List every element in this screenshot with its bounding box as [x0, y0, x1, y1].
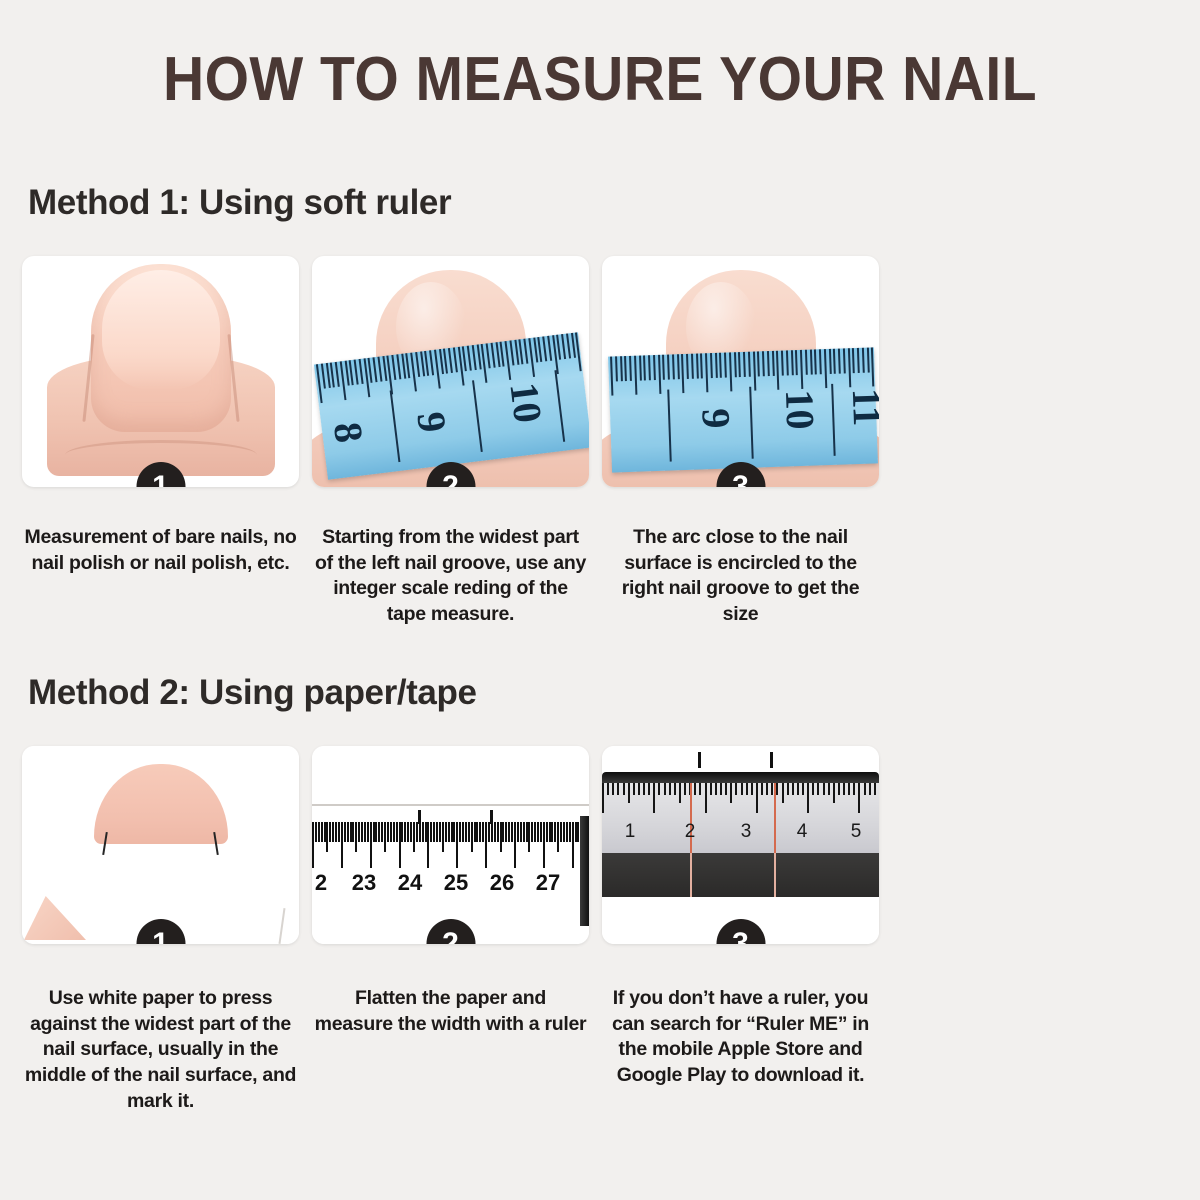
tape-major-line — [749, 386, 754, 458]
photo-paper-ruler-measure: 22324252627 2 — [312, 746, 589, 944]
step-card: 12345 3 If you don’t have a ruler, you c… — [602, 746, 879, 1115]
tape-major-line — [390, 390, 401, 462]
methods-container: Method 1: Using soft ruler 1 Measurement… — [0, 0, 900, 1200]
photo-paper-pressed-on-nail: 1 — [22, 746, 299, 944]
ruler-number: 5 — [851, 821, 862, 843]
tape-major-line — [667, 389, 672, 461]
step-card: 1 Use white paper to press against the w… — [22, 746, 299, 1115]
ruler-scale — [312, 822, 589, 868]
ruler-illustration: 22324252627 — [312, 746, 589, 944]
app-promo-panel: Ruler ME 12:03 1234567891011121314123456… — [900, 0, 1200, 1200]
nail-arc — [94, 764, 228, 844]
marker-line — [774, 853, 776, 897]
step-caption: Flatten the paper and measure the width … — [312, 986, 589, 1037]
tape-measure: 9 10 11 — [608, 347, 878, 472]
tape-major-line — [831, 384, 836, 456]
step-card: 1 Measurement of bare nails, no nail pol… — [22, 256, 299, 628]
ruler-body: 12345 — [602, 783, 879, 853]
method-2-steps: 1 Use white paper to press against the w… — [22, 746, 878, 1115]
marker-line — [774, 783, 776, 853]
step-card: 9 10 11 3 The arc close to the nail surf… — [602, 256, 879, 628]
ruler-number: 1 — [625, 821, 636, 843]
pencil-mark — [698, 752, 701, 768]
step-caption: Use white paper to press against the wid… — [22, 986, 299, 1115]
paper-illustration — [22, 746, 299, 944]
thumb-illustration — [47, 264, 275, 476]
photo-tape-measure-wrapped: 9 10 11 3 — [602, 256, 879, 487]
ruler-number: 24 — [398, 870, 422, 896]
nail-lunula — [102, 270, 220, 390]
metal-ruler-illustration: 12345 — [602, 746, 879, 944]
method-1-steps: 1 Measurement of bare nails, no nail pol… — [22, 256, 878, 628]
tape-number: 11 — [843, 387, 879, 426]
ruler-dark-band — [602, 853, 879, 897]
ruler-number: 25 — [444, 870, 468, 896]
paper-top-edge — [312, 804, 589, 806]
photo-metal-ruler-on-phone: 12345 3 — [602, 746, 879, 944]
tape-number: 9 — [692, 408, 740, 430]
ruler-number: 26 — [490, 870, 514, 896]
nail-plate — [91, 264, 231, 432]
ruler-number: 23 — [352, 870, 376, 896]
tape-ticks — [608, 347, 875, 396]
ruler-numbers: 22324252627 — [312, 870, 589, 904]
method-2-heading: Method 2: Using paper/tape — [28, 673, 477, 713]
tape-major-line — [554, 370, 565, 442]
marker-line — [690, 853, 692, 897]
ruler-number: 3 — [741, 821, 752, 843]
finger-corner — [24, 896, 86, 940]
ruler-number: 27 — [536, 870, 560, 896]
step-card: 8 9 10 2 Starting from the widest part o… — [312, 256, 589, 628]
ruler-number: 2 — [315, 870, 327, 896]
tape-major-line — [472, 380, 483, 452]
step-caption: The arc close to the nail surface is enc… — [602, 525, 879, 628]
step-caption: Starting from the widest part of the lef… — [312, 525, 589, 628]
step-caption: If you don’t have a ruler, you can searc… — [602, 986, 879, 1089]
phone-edge — [602, 772, 879, 783]
photo-tape-measure-on-thumb: 8 9 10 2 — [312, 256, 589, 487]
tape-number: 10 — [500, 380, 552, 425]
ruler-right-bar — [580, 816, 589, 926]
ruler-number: 4 — [797, 821, 808, 843]
method-1-heading: Method 1: Using soft ruler — [28, 183, 451, 223]
photo-bare-thumb-nail: 1 — [22, 256, 299, 487]
pencil-mark — [770, 752, 773, 768]
step-caption: Measurement of bare nails, no nail polis… — [22, 525, 299, 576]
step-card: 22324252627 2 Flatten the paper and meas… — [312, 746, 589, 1115]
paper-edge — [279, 908, 286, 944]
tape-number: 10 — [776, 389, 824, 431]
tape-number: 9 — [407, 409, 456, 435]
tape-number: 8 — [324, 420, 373, 446]
ruler-number: 2 — [685, 821, 696, 843]
